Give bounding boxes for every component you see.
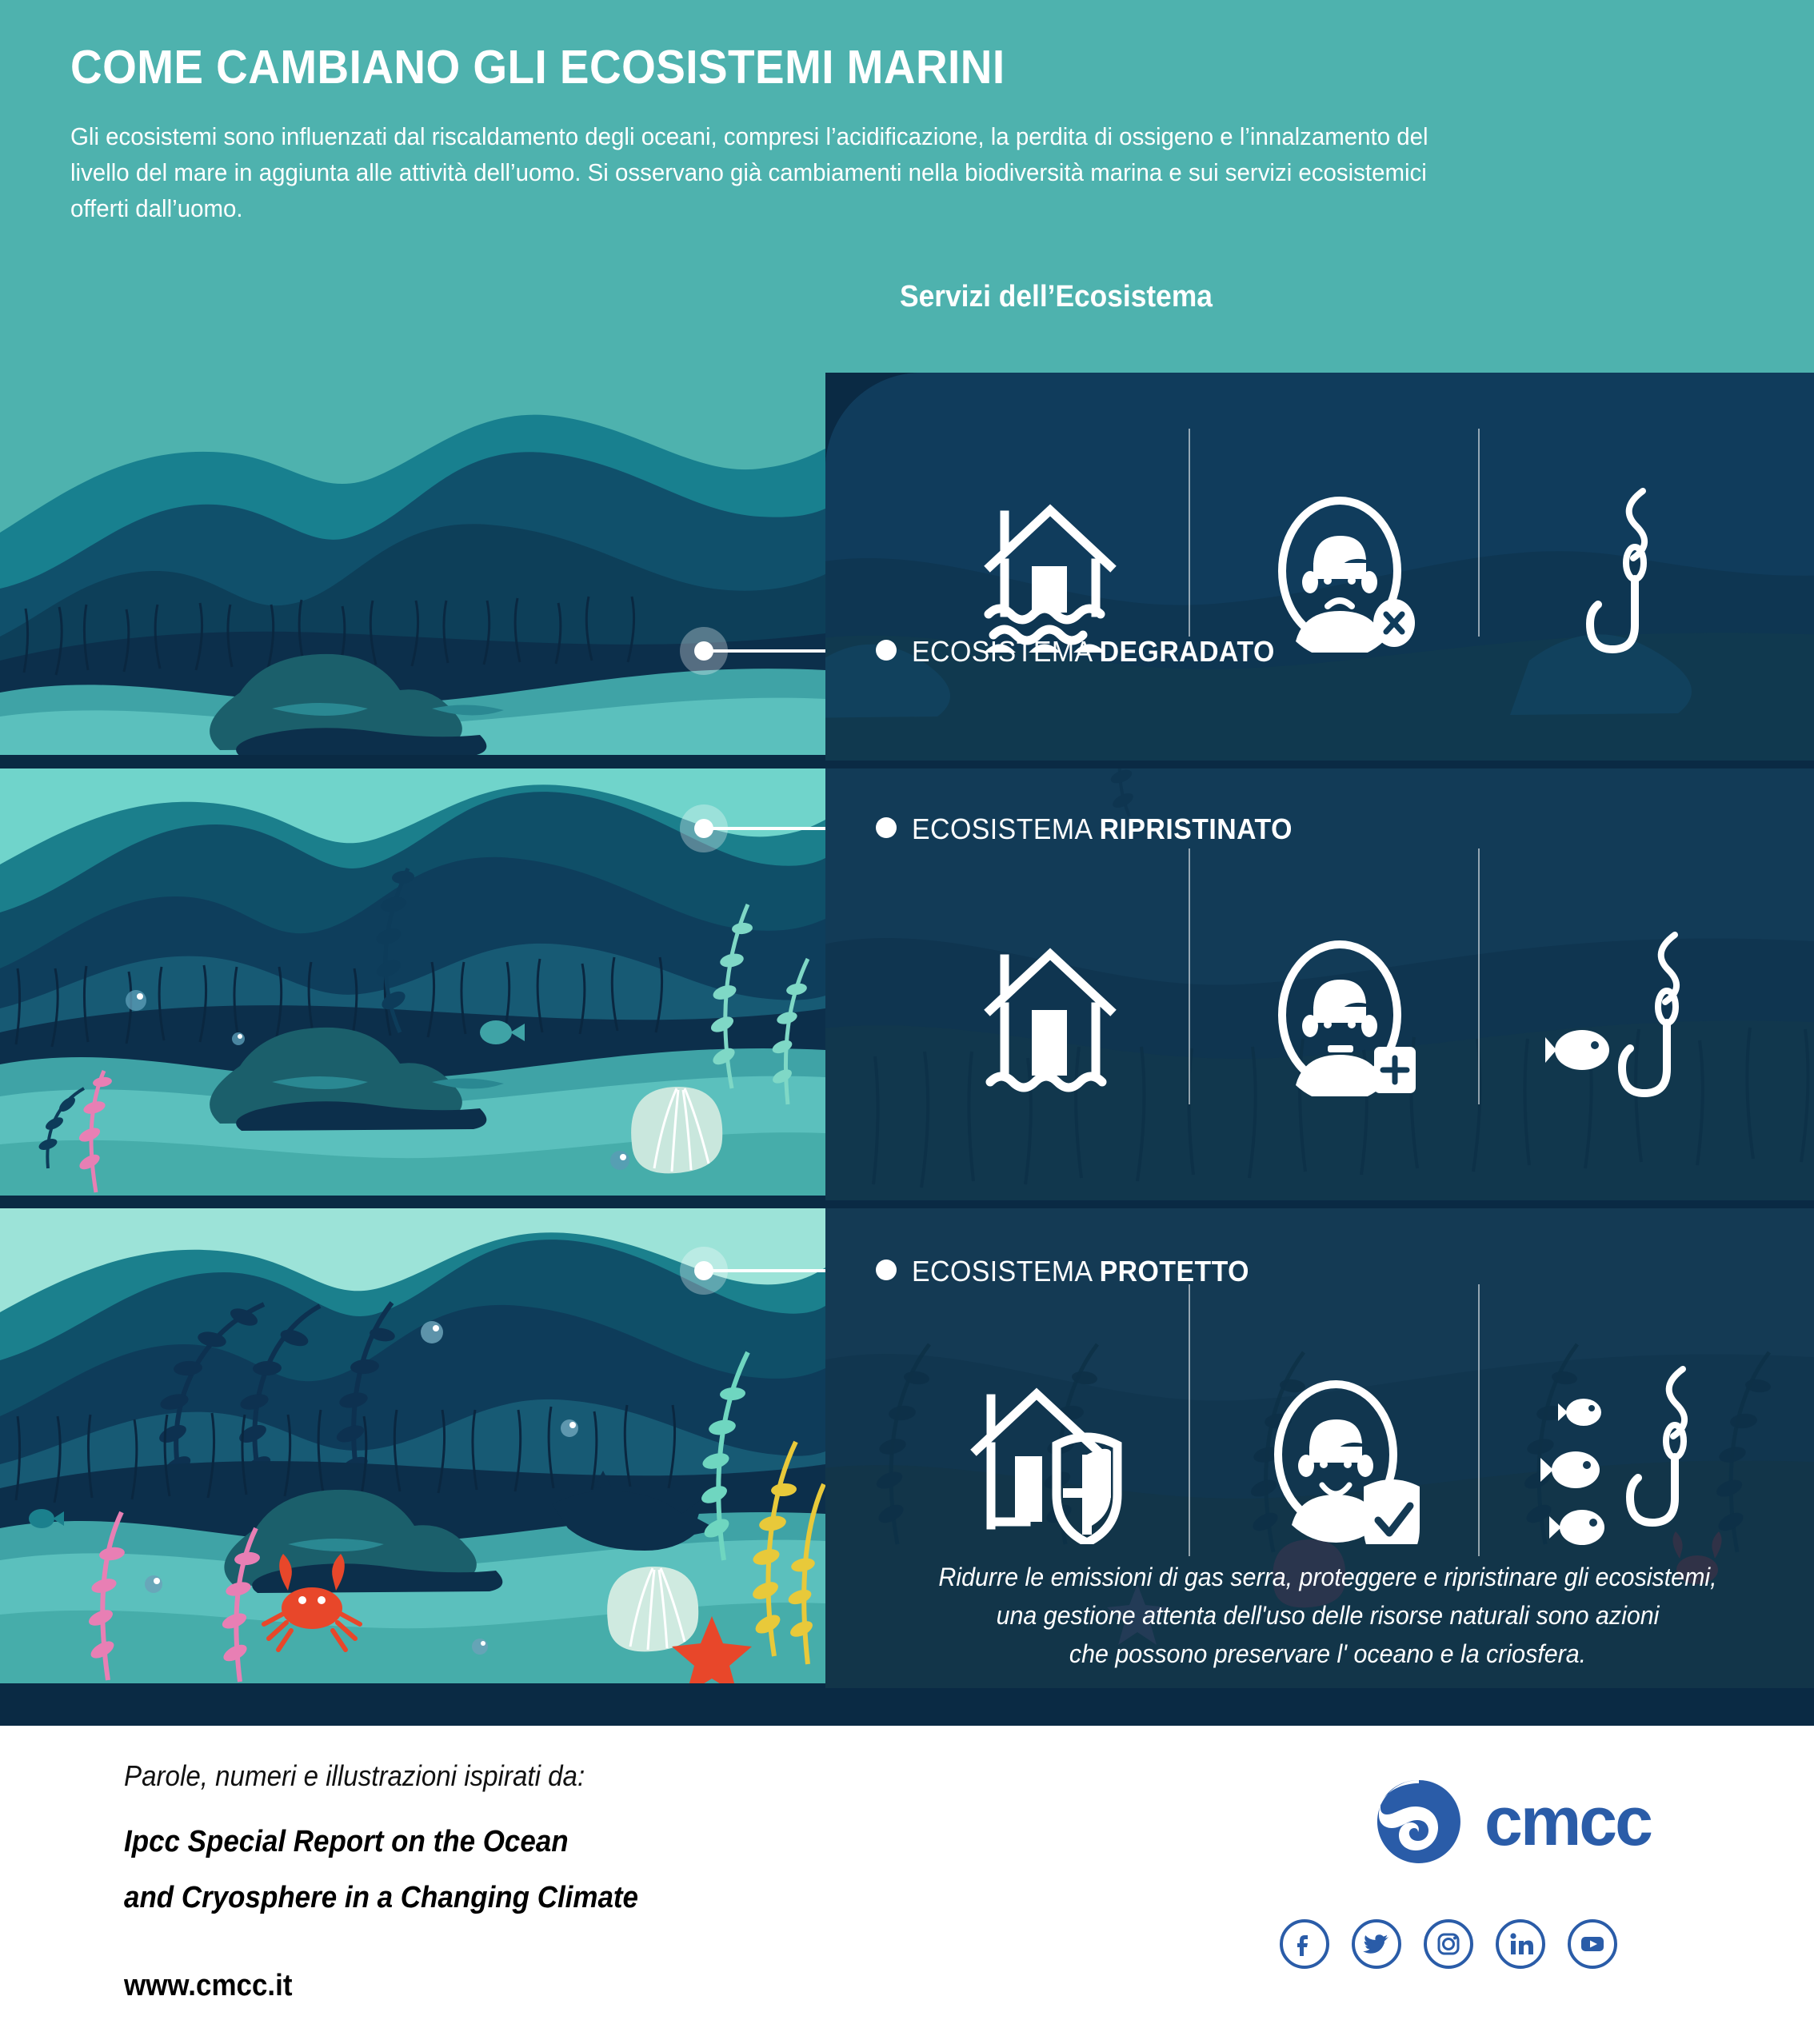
facebook-icon[interactable]: [1280, 1919, 1329, 1969]
intro-line-2: livello del mare in aggiunta alle attivi…: [70, 154, 1598, 190]
linkedin-icon[interactable]: [1496, 1919, 1545, 1969]
label-strong: PROTETTO: [1100, 1255, 1249, 1287]
fish: [1545, 1030, 1609, 1070]
icon-cell-fishhook-three-fish: [1490, 1340, 1784, 1580]
cmcc-logo[interactable]: cmcc: [1374, 1777, 1651, 1866]
shell: [631, 1087, 722, 1173]
icon-cell-fishhook-one-fish: [1490, 896, 1784, 1136]
scene-degraded-svg: [0, 373, 825, 761]
person-neutral-plus-icon: [1264, 936, 1424, 1096]
icon-cell-house-low-water: [904, 896, 1197, 1136]
ecosystem-label-protected: ECOSISTEMA PROTETTO: [912, 1255, 1249, 1288]
icon-cell-house-shield: [904, 1340, 1197, 1580]
icon-cell-person-neutral: [1197, 896, 1491, 1136]
ecosystem-label-restored: ECOSISTEMA RIPRISTINATO: [912, 812, 1293, 846]
infographic-page: COME CAMBIANO GLI ECOSISTEMI MARINI Gli …: [0, 0, 1814, 2044]
instagram-icon[interactable]: [1424, 1919, 1473, 1969]
illustration-degraded: [0, 373, 825, 761]
website-url[interactable]: www.cmcc.it: [124, 1969, 292, 2003]
cmcc-wordmark: cmcc: [1484, 1787, 1651, 1856]
services-heading: Servizi dell’Ecosistema: [900, 280, 1213, 314]
conclusion-line-2: una gestione attenta dell'uso delle riso…: [880, 1596, 1776, 1635]
icon-divider-2: [1478, 848, 1480, 1104]
flooded-house-icon: [974, 493, 1126, 653]
icon-divider-1: [1189, 429, 1190, 637]
icon-divider-1: [1189, 848, 1190, 1104]
label-prefix: ECOSISTEMA: [912, 812, 1100, 845]
fishhook-empty-icon: [1577, 485, 1697, 661]
fishhook-one-fish-icon: [1545, 928, 1729, 1104]
cmcc-wave-icon: [1374, 1777, 1464, 1866]
illustration-restored: [0, 768, 825, 1200]
icon-group-protected: [904, 1340, 1784, 1580]
intro-line-1: Gli ecosistemi sono influenzati dal risc…: [70, 118, 1598, 154]
conclusion-line-1: Ridurre le emissioni di gas serra, prote…: [880, 1558, 1776, 1596]
marker-connector-restored: [704, 827, 825, 830]
label-strong: RIPRISTINATO: [1100, 812, 1293, 845]
label-dot-restored: [876, 817, 897, 838]
icon-cell-person-unhappy: [1197, 453, 1491, 693]
illustration-protected: [0, 1208, 825, 1688]
fishhook-three-fish-icon: [1537, 1364, 1737, 1556]
person-unhappy-x-icon: [1264, 493, 1424, 653]
icon-group-degraded: [904, 453, 1784, 693]
icon-cell-flooded-house: [904, 453, 1197, 693]
label-dot-degraded: [876, 640, 897, 661]
marker-connector-protected: [704, 1269, 825, 1272]
intro-paragraph: Gli ecosistemi sono influenzati dal risc…: [70, 118, 1598, 226]
credit-source-line-1: Ipcc Special Report on the Ocean: [124, 1825, 569, 1859]
icon-divider-2: [1478, 429, 1480, 637]
conclusion-text: Ridurre le emissioni di gas serra, prote…: [880, 1558, 1776, 1673]
house-low-water-icon: [974, 936, 1126, 1096]
intro-line-3: offerti dall’uomo.: [70, 190, 1598, 226]
label-prefix: ECOSISTEMA: [912, 1255, 1100, 1287]
credit-source-line-2: and Cryosphere in a Changing Climate: [124, 1881, 638, 1915]
house-shield-icon: [962, 1376, 1138, 1544]
twitter-icon[interactable]: [1352, 1919, 1401, 1969]
youtube-icon[interactable]: [1568, 1919, 1617, 1969]
shell: [607, 1567, 698, 1651]
icon-cell-fishhook-empty: [1490, 453, 1784, 693]
social-links: [1280, 1919, 1617, 1969]
icon-cell-person-happy-shield: [1197, 1340, 1491, 1580]
person-happy-shield-icon: [1260, 1376, 1428, 1544]
credit-intro: Parole, numeri e illustrazioni ispirati …: [124, 1759, 585, 1793]
ecosystem-row-restored: ECOSISTEMA RIPRISTINATO: [0, 768, 1814, 1200]
icon-divider-2: [1478, 1284, 1480, 1556]
icon-divider-1: [1189, 1284, 1190, 1556]
icon-group-restored: [904, 896, 1784, 1136]
page-title: COME CAMBIANO GLI ECOSISTEMI MARINI: [70, 40, 1005, 94]
conclusion-line-3: che possono preservare l' oceano e la cr…: [880, 1635, 1776, 1673]
ecosystem-row-degraded: ECOSISTEMA DEGRADATO: [0, 373, 1814, 761]
marker-connector-degraded: [704, 649, 825, 653]
label-dot-protected: [876, 1260, 897, 1280]
